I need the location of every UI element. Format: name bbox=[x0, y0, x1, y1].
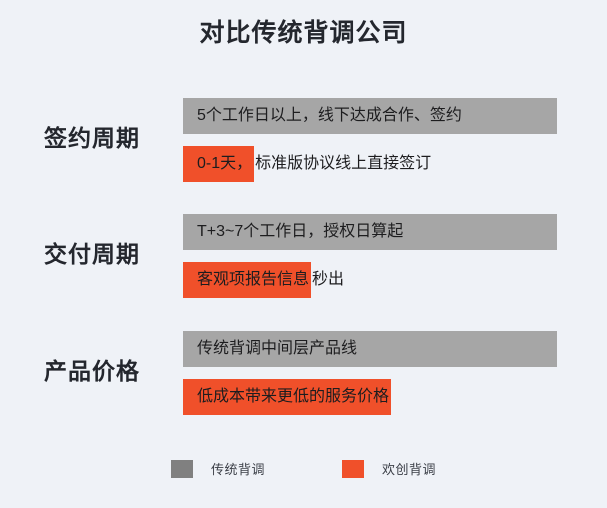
bar-traditional: T+3~7个工作日，授权日算起 bbox=[183, 214, 607, 250]
comparison-row-product-price: 产品价格 传统背调中间层产品线 低成本带来更低的服务价格 bbox=[0, 331, 607, 415]
comparison-row-signing-cycle: 签约周期 5个工作日以上，线下达成合作、签约 0-1天， 标准版协议线上直接签订 bbox=[0, 98, 607, 182]
row-bars: 5个工作日以上，线下达成合作、签约 0-1天， 标准版协议线上直接签订 bbox=[183, 98, 607, 182]
bar-traditional: 传统背调中间层产品线 bbox=[183, 331, 607, 367]
bar-huanchuang: 低成本带来更低的服务价格 bbox=[183, 379, 607, 415]
row-label-delivery-cycle: 交付周期 bbox=[44, 235, 174, 269]
bar-huanchuang-highlight: 客观项报告信息 bbox=[183, 262, 311, 298]
legend-label-traditional: 传统背调 bbox=[211, 459, 265, 478]
legend-item-huanchuang: 欢创背调 bbox=[342, 459, 436, 478]
row-label-signing-cycle: 签约周期 bbox=[44, 119, 174, 153]
bar-traditional: 5个工作日以上，线下达成合作、签约 bbox=[183, 98, 607, 134]
legend-item-traditional: 传统背调 bbox=[171, 459, 265, 478]
comparison-row-delivery-cycle: 交付周期 T+3~7个工作日，授权日算起 客观项报告信息 秒出 bbox=[0, 214, 607, 298]
bar-huanchuang-tail: 标准版协议线上直接签订 bbox=[254, 146, 431, 182]
bar-traditional-text: T+3~7个工作日，授权日算起 bbox=[183, 214, 557, 250]
legend: 传统背调 欢创背调 bbox=[0, 459, 607, 478]
bar-huanchuang: 0-1天， 标准版协议线上直接签订 bbox=[183, 146, 607, 182]
bar-huanchuang-highlight: 低成本带来更低的服务价格 bbox=[183, 379, 391, 415]
row-label-product-price: 产品价格 bbox=[44, 352, 174, 386]
bar-traditional-text: 5个工作日以上，线下达成合作、签约 bbox=[183, 98, 557, 134]
bar-traditional-text: 传统背调中间层产品线 bbox=[183, 331, 557, 367]
row-bars: T+3~7个工作日，授权日算起 客观项报告信息 秒出 bbox=[183, 214, 607, 298]
comparison-infographic: 对比传统背调公司 签约周期 5个工作日以上，线下达成合作、签约 0-1天， 标准… bbox=[0, 0, 607, 508]
bar-huanchuang-tail bbox=[391, 379, 392, 415]
bar-huanchuang-highlight: 0-1天， bbox=[183, 146, 254, 182]
bar-huanchuang: 客观项报告信息 秒出 bbox=[183, 262, 607, 298]
page-title: 对比传统背调公司 bbox=[0, 13, 607, 49]
bar-huanchuang-tail: 秒出 bbox=[311, 262, 344, 298]
orange-swatch-icon bbox=[342, 460, 364, 478]
gray-swatch-icon bbox=[171, 460, 193, 478]
legend-label-huanchuang: 欢创背调 bbox=[382, 459, 436, 478]
row-bars: 传统背调中间层产品线 低成本带来更低的服务价格 bbox=[183, 331, 607, 415]
